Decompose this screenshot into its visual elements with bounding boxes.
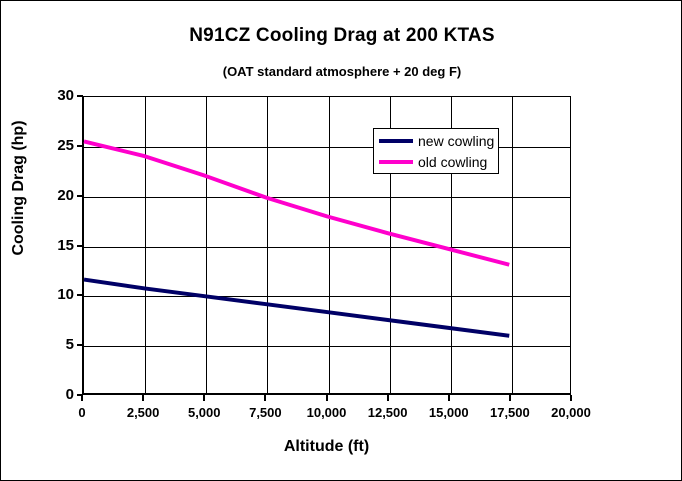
x-tick-mark xyxy=(326,395,328,401)
chart-window: N91CZ Cooling Drag at 200 KTAS (OAT stan… xyxy=(0,0,682,481)
y-tick-label: 25 xyxy=(34,137,74,154)
legend-item: new cowling xyxy=(379,131,494,151)
legend-label: old cowling xyxy=(418,155,487,169)
x-tick-mark xyxy=(448,395,450,401)
chart-legend: new cowlingold cowling xyxy=(373,128,499,174)
y-tick-label: 20 xyxy=(34,187,74,204)
y-tick-label: 30 xyxy=(34,87,74,104)
x-tick-mark xyxy=(509,395,511,401)
series-line-new-cowling xyxy=(84,280,509,336)
x-tick-mark xyxy=(142,395,144,401)
x-tick-mark xyxy=(387,395,389,401)
x-tick-mark xyxy=(264,395,266,401)
x-tick-mark xyxy=(203,395,205,401)
x-axis-title: Altitude (ft) xyxy=(82,438,571,456)
x-tick-mark xyxy=(81,395,83,401)
legend-swatch-icon xyxy=(379,139,413,143)
y-tick-label: 5 xyxy=(34,336,74,353)
x-tick-label: 20,000 xyxy=(526,405,616,420)
chart-title: N91CZ Cooling Drag at 200 KTAS xyxy=(1,25,682,47)
x-tick-mark xyxy=(570,395,572,401)
legend-swatch-icon xyxy=(379,160,413,164)
legend-item: old cowling xyxy=(379,152,487,172)
y-tick-label: 15 xyxy=(34,237,74,254)
y-tick-label: 0 xyxy=(34,386,74,403)
legend-label: new cowling xyxy=(418,134,494,148)
y-tick-label: 10 xyxy=(34,286,74,303)
y-axis-title: Cooling Drag (hp) xyxy=(10,88,28,288)
chart-subtitle: (OAT standard atmosphere + 20 deg F) xyxy=(1,64,682,79)
